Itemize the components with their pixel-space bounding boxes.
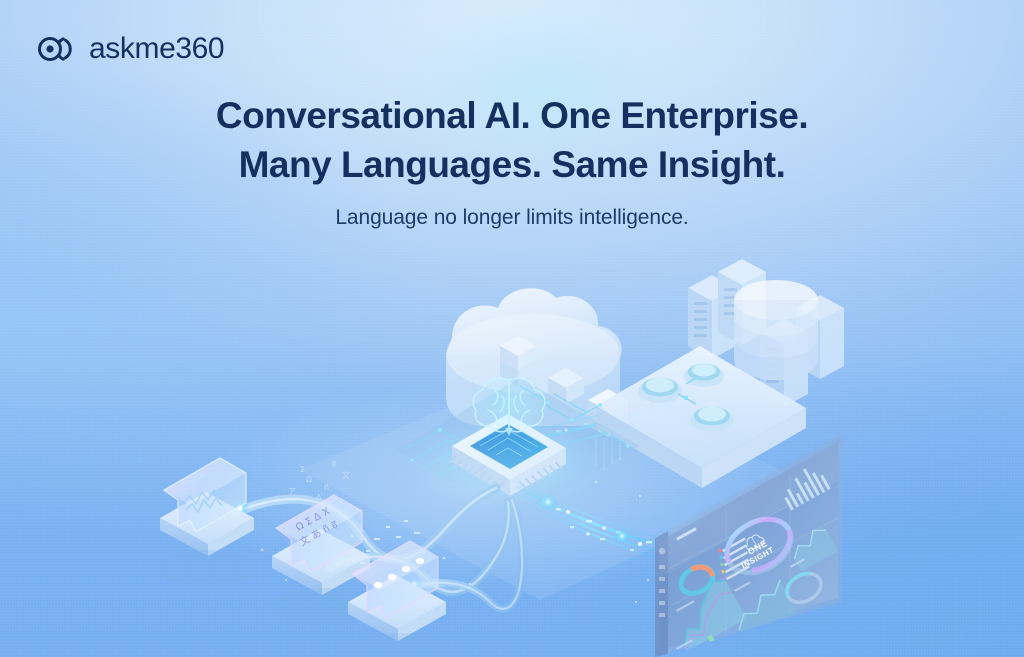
askme360-circles-logo-icon [36,35,80,63]
svg-text:Δ: Δ [316,493,322,502]
hero-text-block: Conversational AI. One Enterprise. Many … [0,92,1024,230]
chat-card-left [158,458,258,586]
page-title: Conversational AI. One Enterprise. Many … [0,92,1024,190]
svg-text:ñ: ñ [324,483,329,492]
brand-logo[interactable]: askme360 [36,34,224,64]
headline-line-1: Conversational AI. One Enterprise. [0,92,1024,141]
svg-text:Σ: Σ [300,465,305,474]
brand-wordmark: askme360 [89,34,224,64]
hero-illustration: Ω Σ Δ Χ 文 あ ñ ह ア Ω ñ 文 Σ ह Δ [0,250,1024,657]
brain-icon [467,371,551,439]
svg-text:ア: ア [288,487,296,496]
hero-banner: askme360 Conversational AI. One Enterpri… [0,0,1024,657]
database-stack [734,280,818,380]
svg-text:Ω: Ω [306,475,312,484]
svg-text:文: 文 [342,470,350,480]
hero-subtitle: Language no longer limits intelligence. [0,206,1024,230]
headline-line-2: Many Languages. Same Insight. [0,141,1024,190]
